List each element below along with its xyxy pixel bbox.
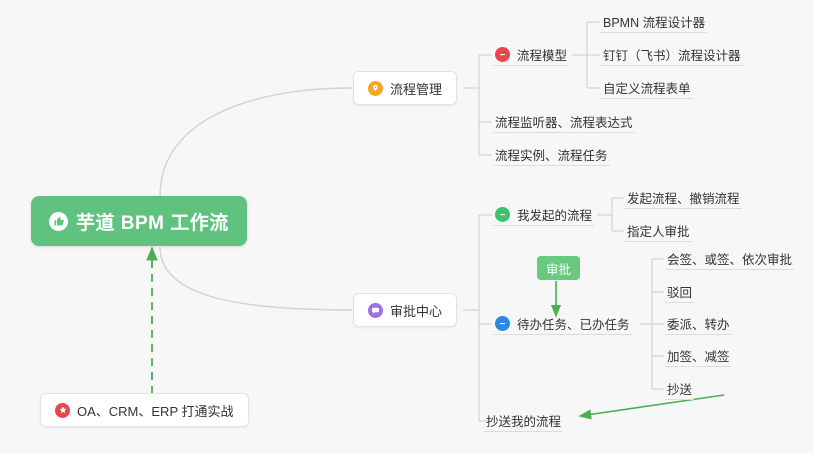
node-label: 会签、或签、依次审批 bbox=[667, 249, 792, 268]
mindmap-canvas: 芋道 BPM 工作流 流程管理 流程模型 BPMN 流程设计器 钉钉（飞书）流程… bbox=[0, 0, 814, 453]
branch-label: 审批中心 bbox=[390, 301, 442, 320]
node-cc[interactable]: 抄送 bbox=[665, 378, 694, 400]
node-process-model[interactable]: 流程模型 bbox=[493, 44, 569, 66]
thumbs-up-icon bbox=[49, 212, 68, 231]
node-label: 待办任务、已办任务 bbox=[517, 314, 630, 333]
branch-node-process-management[interactable]: 流程管理 bbox=[353, 71, 457, 105]
node-label: 加签、减签 bbox=[667, 346, 730, 365]
node-custom-form[interactable]: 自定义流程表单 bbox=[601, 77, 693, 99]
node-label: 流程模型 bbox=[517, 45, 567, 64]
minus-circle-icon bbox=[495, 316, 510, 331]
branch-label: 流程管理 bbox=[390, 79, 442, 98]
minus-circle-icon bbox=[495, 47, 510, 62]
node-bpmn-designer[interactable]: BPMN 流程设计器 bbox=[601, 11, 707, 33]
node-delegate-transfer[interactable]: 委派、转办 bbox=[665, 313, 732, 335]
branch-node-approval-center[interactable]: 审批中心 bbox=[353, 293, 457, 327]
node-reject[interactable]: 驳回 bbox=[665, 281, 694, 303]
node-assigned-approver[interactable]: 指定人审批 bbox=[625, 220, 692, 242]
node-label: 抄送 bbox=[667, 379, 692, 398]
node-label: 流程监听器、流程表达式 bbox=[495, 112, 633, 131]
node-start-cancel-process[interactable]: 发起流程、撤销流程 bbox=[625, 187, 742, 209]
node-todo-done-tasks[interactable]: 待办任务、已办任务 bbox=[493, 313, 632, 335]
node-label: 委派、转办 bbox=[667, 314, 730, 333]
location-pin-icon bbox=[368, 81, 383, 96]
node-countersign[interactable]: 会签、或签、依次审批 bbox=[665, 248, 794, 270]
node-label: 指定人审批 bbox=[627, 221, 690, 240]
node-label: 自定义流程表单 bbox=[603, 78, 691, 97]
node-label: 发起流程、撤销流程 bbox=[627, 188, 740, 207]
node-my-initiated-process[interactable]: 我发起的流程 bbox=[493, 204, 594, 226]
node-label: 驳回 bbox=[667, 282, 692, 301]
root-node[interactable]: 芋道 BPM 工作流 bbox=[31, 196, 247, 246]
node-cc-to-me[interactable]: 抄送我的流程 bbox=[484, 410, 563, 432]
root-label: 芋道 BPM 工作流 bbox=[76, 208, 229, 235]
node-listener-expression[interactable]: 流程监听器、流程表达式 bbox=[493, 111, 635, 133]
tag-label: 审批 bbox=[546, 259, 571, 278]
minus-circle-icon bbox=[495, 207, 510, 222]
node-label: 流程实例、流程任务 bbox=[495, 145, 608, 164]
node-label: 抄送我的流程 bbox=[486, 411, 561, 430]
node-add-remove-sign[interactable]: 加签、减签 bbox=[665, 345, 732, 367]
node-label: 钉钉（飞书）流程设计器 bbox=[603, 45, 741, 64]
node-instance-task[interactable]: 流程实例、流程任务 bbox=[493, 144, 610, 166]
tag-node-approval[interactable]: 审批 bbox=[537, 256, 580, 280]
node-label: 我发起的流程 bbox=[517, 205, 592, 224]
message-circle-icon bbox=[368, 303, 383, 318]
footer-label: OA、CRM、ERP 打通实战 bbox=[77, 401, 234, 420]
star-circle-icon bbox=[55, 403, 70, 418]
node-dingtalk-designer[interactable]: 钉钉（飞书）流程设计器 bbox=[601, 44, 743, 66]
node-label: BPMN 流程设计器 bbox=[603, 12, 705, 31]
footer-node-integration[interactable]: OA、CRM、ERP 打通实战 bbox=[40, 393, 249, 427]
